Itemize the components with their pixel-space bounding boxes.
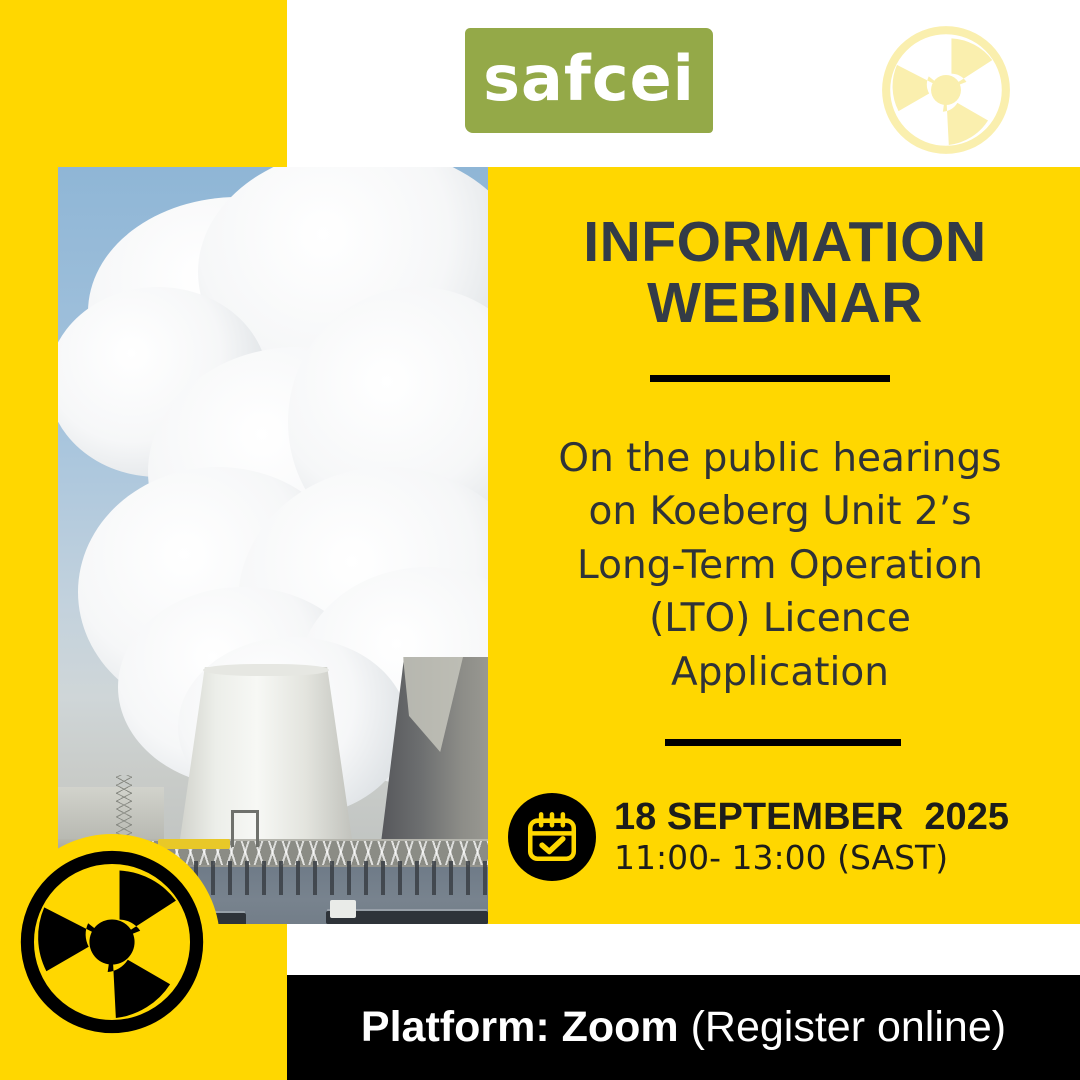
safcei-logo-text: safcei [483,48,695,110]
divider-top [650,375,890,382]
platform-banner: Platform: Zoom (Register online) [287,975,1080,1080]
radiation-icon [18,848,206,1036]
safcei-logo: safcei [465,28,713,133]
power-pylon [116,775,132,841]
page-title: INFORMATION WEBINAR [500,212,1070,334]
calendar-icon-badge [508,793,596,881]
event-datetime: 18 SEPTEMBER 2025 11:00- 13:00 (SAST) [508,793,1009,881]
cooling-tower-rim [203,664,329,676]
hero-photo [58,167,488,924]
calendar-check-icon [523,808,581,866]
radiation-badge [18,848,206,1036]
title-line-2: WEBINAR [500,273,1070,334]
event-time: 11:00- 13:00 (SAST) [614,838,1009,878]
description-line: Application [520,646,1040,699]
description-line: On the public hearings [520,432,1040,485]
description-line: (LTO) Licence [520,592,1040,645]
description-line: on Koeberg Unit 2’s [520,485,1040,538]
divider-bottom [665,739,901,746]
crane [231,810,259,847]
webinar-description: On the public hearings on Koeberg Unit 2… [520,432,1040,699]
register-note: (Register online) [679,1003,1006,1052]
boat-cabin [330,900,356,918]
event-date: 18 SEPTEMBER 2025 [614,796,1009,839]
cooling-tower-main [176,667,356,867]
radiation-icon [878,22,1014,158]
poster-canvas: safcei [0,0,1080,1080]
title-line-1: INFORMATION [500,212,1070,273]
datetime-text: 18 SEPTEMBER 2025 11:00- 13:00 (SAST) [614,796,1009,878]
platform-label: Platform: Zoom [361,1003,679,1052]
description-line: Long-Term Operation [520,539,1040,592]
